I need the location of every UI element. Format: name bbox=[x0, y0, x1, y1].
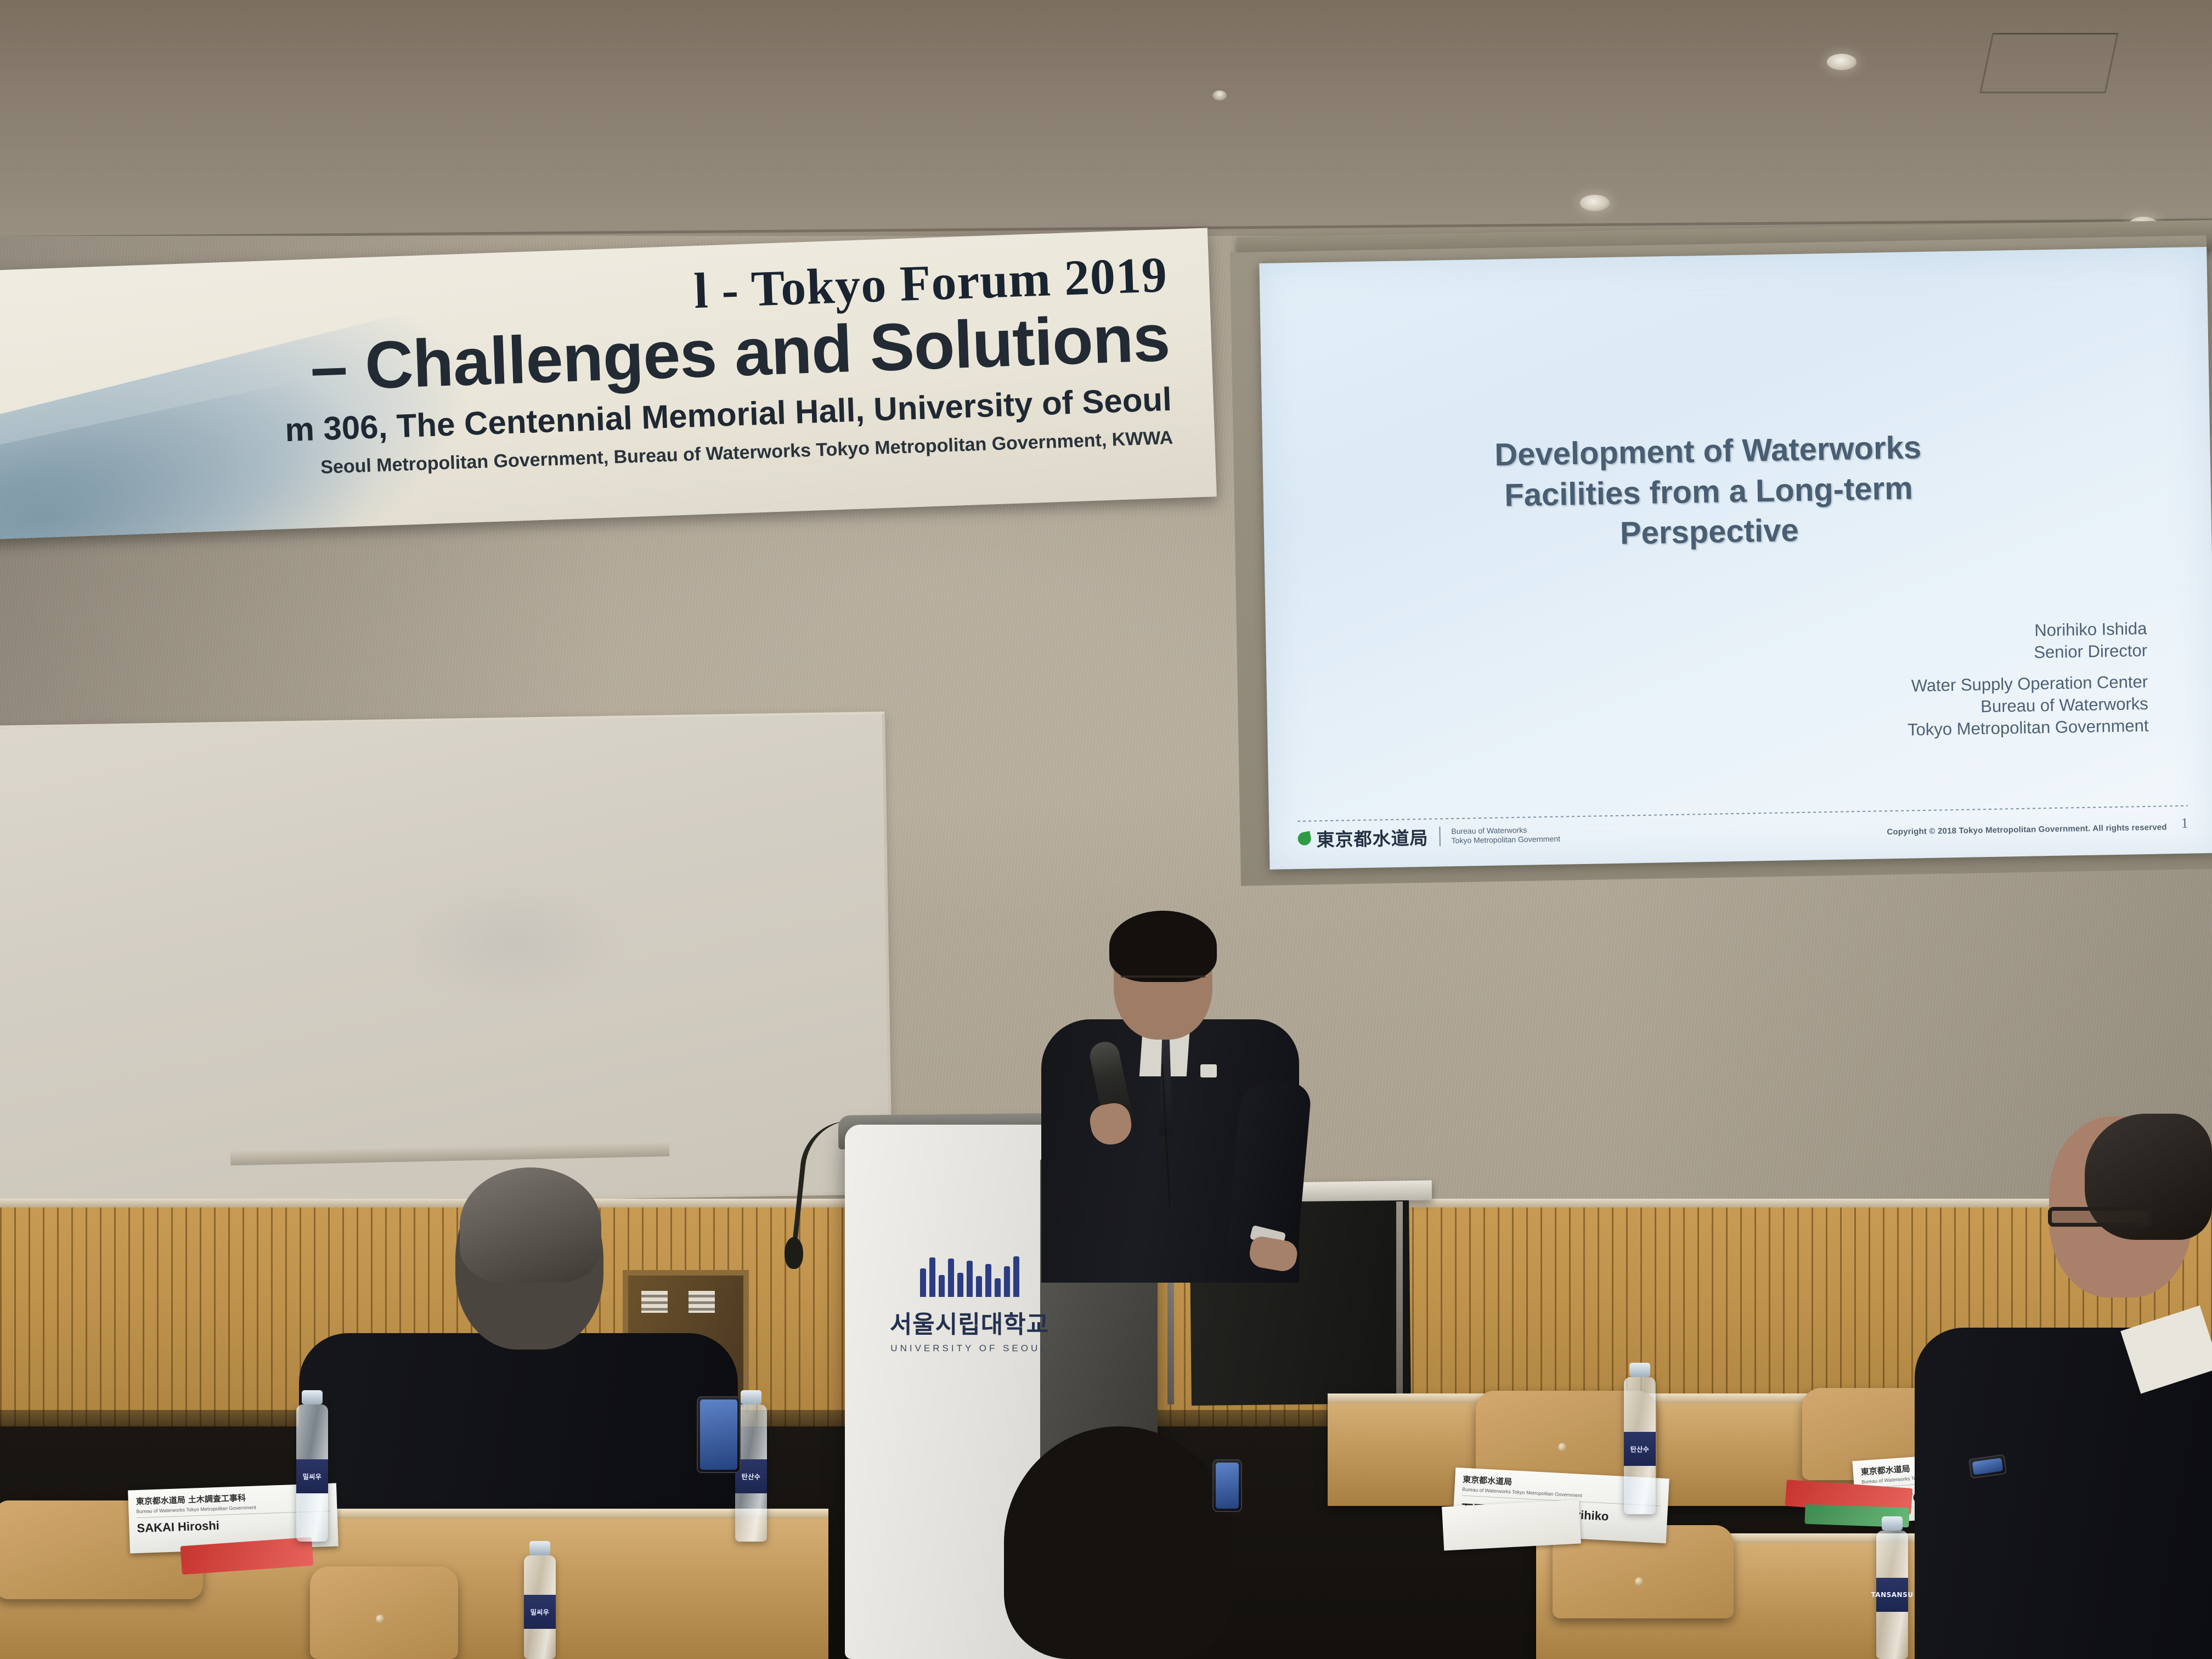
presentation-slide: Development of Waterworks Facilities fro… bbox=[1259, 247, 2212, 870]
audience-center-head bbox=[1004, 1426, 1234, 1659]
bottle-label-text: TANSANSU bbox=[1871, 1591, 1914, 1599]
presenter-title: Senior Director bbox=[1906, 640, 2147, 666]
whiteboard-smudge bbox=[397, 877, 629, 1007]
logo-english-text: Bureau of Waterworks Tokyo Metropolitan … bbox=[1451, 825, 1560, 845]
glasses-icon bbox=[1121, 975, 1205, 992]
leaf-icon bbox=[1296, 831, 1312, 847]
slide-page-number: 1 bbox=[2181, 815, 2188, 832]
bottle-label: TANSANSU bbox=[1876, 1578, 1908, 1612]
ceiling-vent bbox=[1979, 33, 2118, 93]
slide-title: Development of Waterworks Facilities fro… bbox=[1262, 424, 2155, 560]
slide-presenter-credits: Norihiko Ishida Senior Director Water Su… bbox=[1906, 618, 2149, 741]
glasses-icon bbox=[2048, 1207, 2152, 1227]
water-bottle[interactable]: 밀씨우 bbox=[296, 1404, 328, 1542]
sprinkler-head-icon bbox=[1212, 91, 1227, 100]
projector-screen: Development of Waterworks Facilities fro… bbox=[1259, 247, 2212, 870]
bottle-label-text: 탄산수 bbox=[742, 1472, 761, 1481]
smartphone[interactable] bbox=[1212, 1459, 1242, 1512]
bottle-cap-icon bbox=[1882, 1516, 1903, 1531]
speaker-lapel-pin-icon bbox=[1200, 1064, 1217, 1077]
phone-screen bbox=[1972, 1458, 2004, 1475]
chair-screw-icon bbox=[376, 1615, 385, 1623]
bottle-cap-icon bbox=[741, 1390, 761, 1404]
bottle-cap-icon bbox=[302, 1390, 323, 1404]
chair bbox=[310, 1566, 458, 1659]
tablet-screen bbox=[700, 1400, 737, 1470]
event-banner: l - Tokyo Forum 2019 – Challenges and So… bbox=[0, 228, 1217, 540]
whiteboard bbox=[0, 712, 893, 1209]
table-leg bbox=[1396, 1201, 1403, 1410]
presenter-org-line3: Tokyo Metropolitan Government bbox=[1908, 715, 2149, 741]
podium-microphone-icon bbox=[785, 1237, 803, 1269]
bottle-label-text: 밀씨우 bbox=[303, 1472, 322, 1481]
conference-room-photo: l - Tokyo Forum 2019 – Challenges and So… bbox=[0, 0, 2212, 1659]
university-of-seoul-logo: 서울시립대학교 UNIVERSITY OF SEOUL bbox=[884, 1256, 1054, 1354]
bottle-label: 밀씨우 bbox=[524, 1595, 556, 1629]
tablet-device[interactable] bbox=[697, 1396, 741, 1473]
bottle-label-text: 밀씨우 bbox=[531, 1607, 550, 1617]
uos-korean-name: 서울시립대학교 bbox=[884, 1305, 1054, 1340]
bottle-cap-icon bbox=[1629, 1363, 1650, 1377]
bottle-label-text: 탄산수 bbox=[1630, 1444, 1650, 1454]
bottle-label: 탄산수 bbox=[1624, 1432, 1656, 1466]
speaker-at-podium bbox=[1031, 900, 1317, 1284]
water-bottle[interactable]: TANSANSU bbox=[1876, 1531, 1908, 1659]
uos-bars-icon bbox=[884, 1256, 1054, 1297]
bureau-of-waterworks-logo: 東京都水道局 Bureau of Waterworks Tokyo Metrop… bbox=[1297, 821, 1560, 852]
slide-footer-right: Copyright © 2018 Tokyo Metropolitan Gove… bbox=[1887, 815, 2188, 837]
bottle-label: 밀씨우 bbox=[296, 1459, 328, 1493]
logo-english-line2: Tokyo Metropolitan Government bbox=[1451, 834, 1560, 846]
ceiling bbox=[0, 0, 2212, 258]
handout-paper[interactable] bbox=[1442, 1500, 1581, 1551]
audience-left-hair bbox=[460, 1167, 601, 1283]
downlight-icon bbox=[1580, 195, 1610, 211]
chair-screw-icon bbox=[1635, 1577, 1644, 1586]
downlight-icon bbox=[1827, 54, 1857, 70]
bottle-cap-icon bbox=[529, 1541, 550, 1555]
chair-screw-icon bbox=[1558, 1443, 1567, 1452]
logo-divider bbox=[1439, 826, 1441, 846]
water-bottle[interactable]: 밀씨우 bbox=[524, 1555, 556, 1659]
slide-footer: 東京都水道局 Bureau of Waterworks Tokyo Metrop… bbox=[1297, 808, 2188, 855]
speaker-hair bbox=[1109, 911, 1217, 982]
copyright-text: Copyright © 2018 Tokyo Metropolitan Gove… bbox=[1887, 822, 2167, 837]
water-bottle[interactable]: 탄산수 bbox=[1624, 1377, 1656, 1514]
logo-japanese-text: 東京都水道局 bbox=[1316, 823, 1429, 852]
phone-screen bbox=[1216, 1463, 1239, 1509]
uos-english-name: UNIVERSITY OF SEOUL bbox=[884, 1343, 1054, 1354]
cabinet-vent-icon bbox=[641, 1291, 668, 1313]
cabinet-vent-icon bbox=[689, 1291, 715, 1313]
